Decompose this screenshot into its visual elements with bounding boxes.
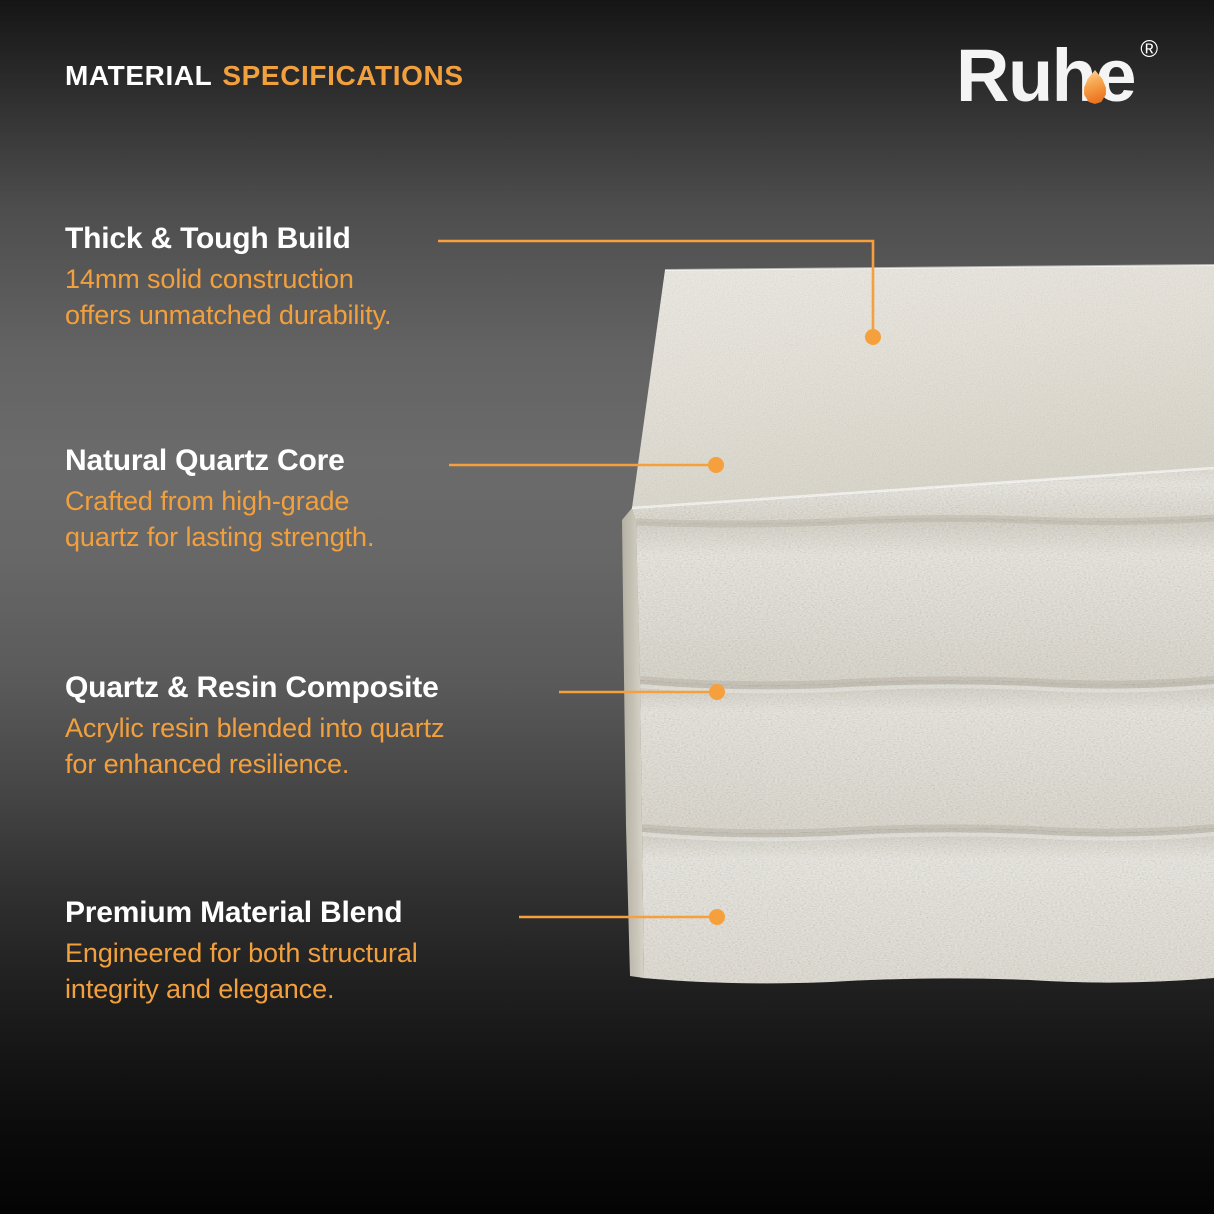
infographic-canvas: MATERIAL SPECIFICATIONS Ruhe ®: [0, 0, 1214, 1214]
callout-body-line: 14mm solid construction: [65, 261, 391, 297]
callout-body-line: integrity and elegance.: [65, 971, 418, 1007]
callout-title: Thick & Tough Build: [65, 222, 391, 255]
registered-trademark-icon: ®: [1140, 38, 1158, 62]
callout-title: Natural Quartz Core: [65, 444, 374, 477]
quartz-slab-illustration: [600, 250, 1214, 990]
callout-title: Quartz & Resin Composite: [65, 671, 444, 704]
callout-quartz-resin-composite: Quartz & Resin Composite Acrylic resin b…: [65, 671, 444, 783]
callout-thick-tough-build: Thick & Tough Build 14mm solid construct…: [65, 222, 391, 334]
callout-body-line: Engineered for both structural: [65, 935, 418, 971]
callout-body-line: Crafted from high-grade: [65, 483, 374, 519]
callout-body: Engineered for both structural integrity…: [65, 935, 418, 1008]
callout-title: Premium Material Blend: [65, 896, 418, 929]
brand-logo: Ruhe ®: [956, 32, 1156, 120]
page-title-accent: SPECIFICATIONS: [222, 60, 463, 92]
callout-body-line: quartz for lasting strength.: [65, 519, 374, 555]
callout-body: Crafted from high-grade quartz for lasti…: [65, 483, 374, 556]
callout-body-line: Acrylic resin blended into quartz: [65, 710, 444, 746]
page-title-plain: MATERIAL: [65, 60, 212, 92]
page-title: MATERIAL SPECIFICATIONS: [65, 60, 464, 92]
quartz-slab-svg: [600, 250, 1214, 990]
callout-natural-quartz-core: Natural Quartz Core Crafted from high-gr…: [65, 444, 374, 556]
callout-body: Acrylic resin blended into quartz for en…: [65, 710, 444, 783]
callout-premium-material-blend: Premium Material Blend Engineered for bo…: [65, 896, 418, 1008]
brand-wordmark: Ruhe: [956, 32, 1135, 120]
callout-body-line: offers unmatched durability.: [65, 297, 391, 333]
callout-body-line: for enhanced resilience.: [65, 746, 444, 782]
callout-body: 14mm solid construction offers unmatched…: [65, 261, 391, 334]
